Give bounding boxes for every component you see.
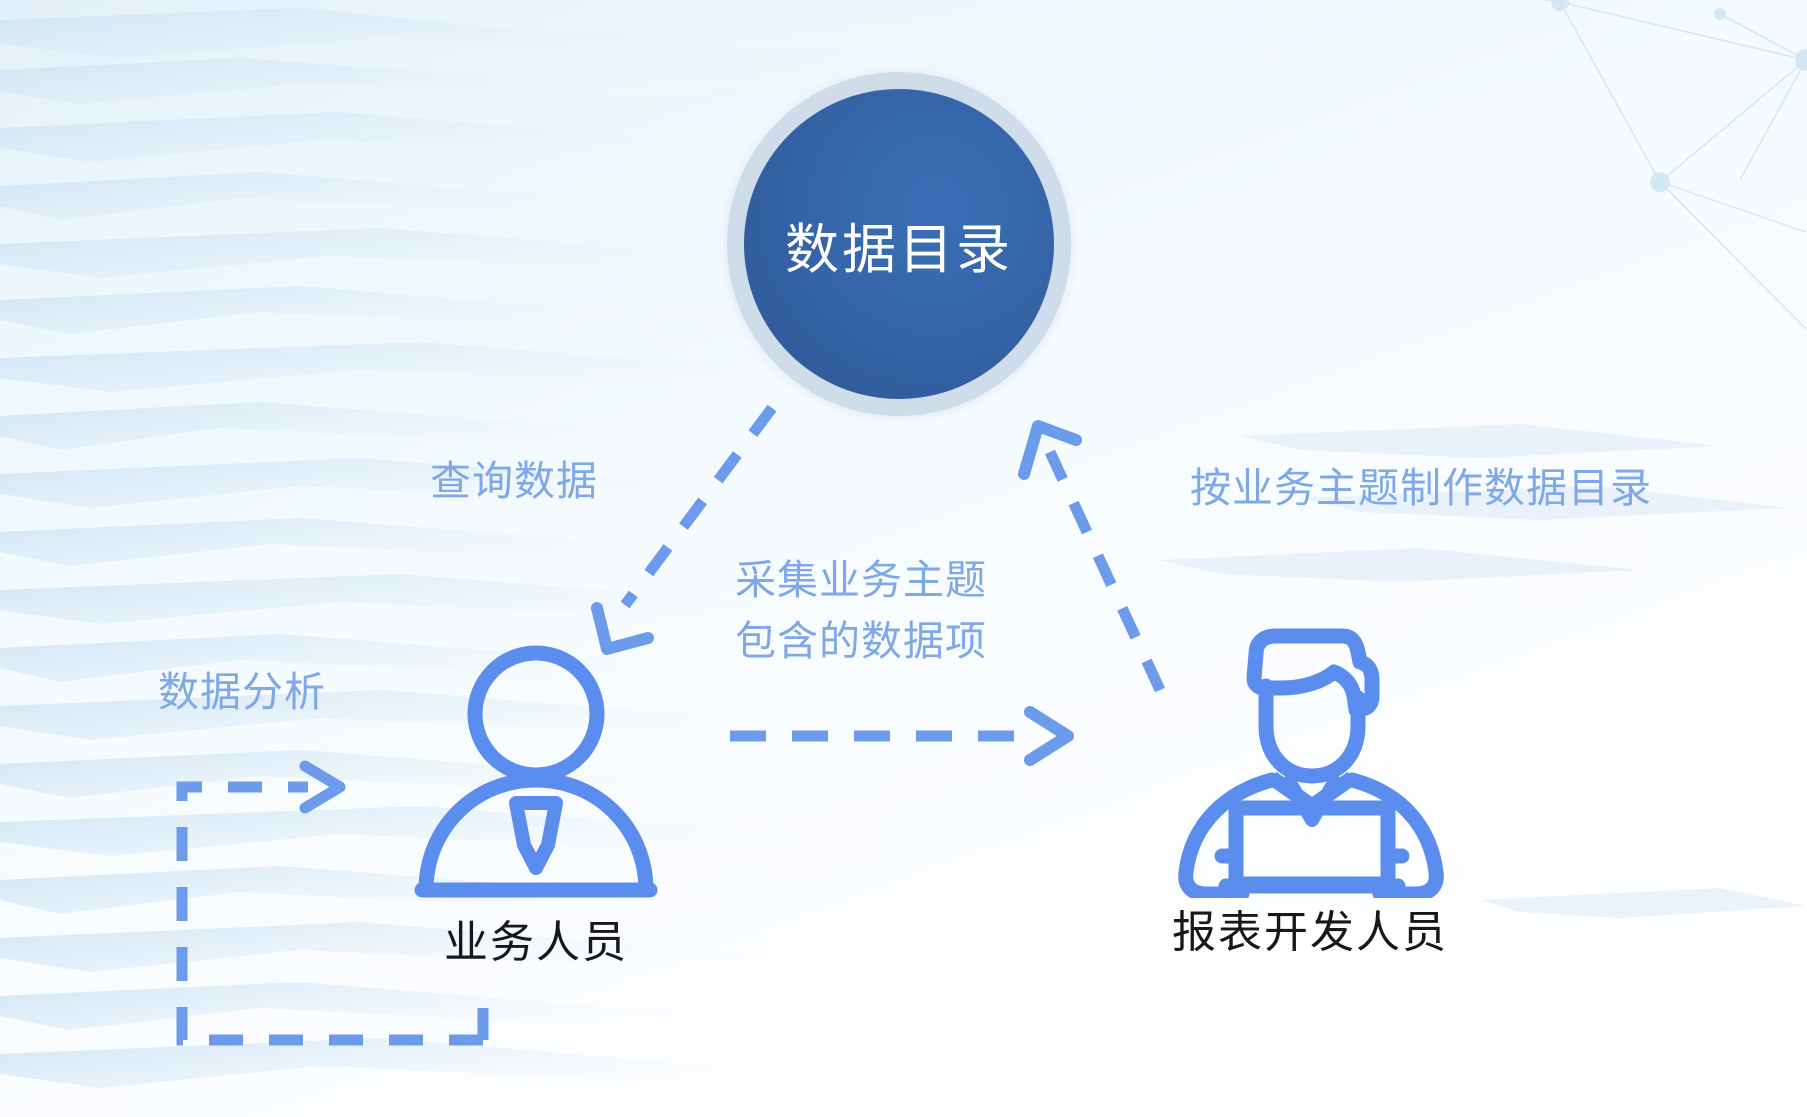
person-with-laptop-icon: [1164, 610, 1456, 898]
edge-label-build-catalog: 按业务主题制作数据目录: [1190, 459, 1652, 518]
actor-report-developer-label: 报表开发人员: [1172, 896, 1448, 960]
center-node-label: 数据目录: [785, 205, 1013, 284]
edge-label-collect-line-2: 包含的数据项: [735, 611, 1065, 672]
person-with-tie-icon: [404, 640, 668, 902]
actor-report-developer[interactable]: 报表开发人员: [1150, 610, 1470, 960]
actor-business-person-label: 业务人员: [444, 906, 628, 970]
edge-label-data-analysis: 数据分析: [158, 663, 326, 722]
diagram-canvas: 数据目录 查询数据 数据分析 采集业务主题 包含的数据项 按业务主题制作数据目录…: [0, 0, 1807, 1117]
arrow-collect-data-items: [730, 712, 1068, 760]
center-node-data-catalog[interactable]: 数据目录: [727, 72, 1071, 416]
edge-label-collect-data-items: 采集业务主题 包含的数据项: [735, 550, 1065, 671]
actor-business-person[interactable]: 业务人员: [386, 640, 686, 970]
center-node-circle: 数据目录: [744, 89, 1054, 399]
edge-label-query-data: 查询数据: [430, 452, 598, 511]
edge-label-collect-line-1: 采集业务主题: [735, 550, 1065, 611]
